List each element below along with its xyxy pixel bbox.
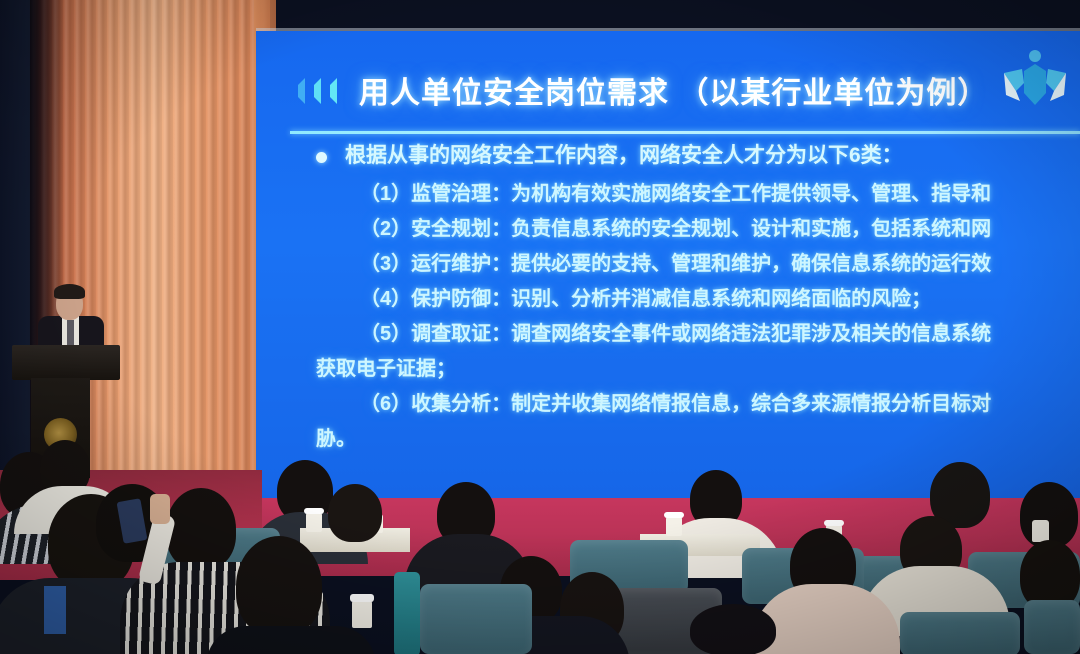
audience-head xyxy=(560,572,624,646)
lanyard xyxy=(44,586,66,634)
slide-item-2: （2）安全规划：负责信息系统的安全规划、设计和实施，包括系统和网 xyxy=(360,216,1080,242)
slide-bullet: 根据从事的网络安全工作内容，网络安全人才分为以下6类： xyxy=(316,143,1080,169)
slide-title: 用人单位安全岗位需求 （以某行业单位为例） xyxy=(359,68,988,112)
chair xyxy=(900,612,1020,654)
speaker-hair xyxy=(54,284,85,299)
chair xyxy=(612,588,722,654)
chair xyxy=(1024,600,1080,654)
slide-item-1: （1）监管治理：为机构有效实施网络安全工作提供领导、管理、指导和 xyxy=(360,181,1080,207)
podium-emblem xyxy=(44,418,77,451)
conference-photo: 用人单位安全岗位需求 （以某行业单位为例） 根据从事的网络安全工作内容，网络安全… xyxy=(0,0,1080,654)
slide-item-5: （5）调查取证：调查网络安全事件或网络违法犯罪涉及相关的信息系统 xyxy=(360,321,1080,347)
title-underline xyxy=(290,131,1080,134)
speaker-tie xyxy=(67,320,74,346)
slide-item-3: （3）运行维护：提供必要的支持、管理和维护，确保信息系统的运行效 xyxy=(360,251,1080,277)
audience-shoulders xyxy=(860,566,1010,636)
presentation-screen: 用人单位安全岗位需求 （以某行业单位为例） 根据从事的网络安全工作内容，网络安全… xyxy=(256,31,1080,501)
slide-item-4: （4）保护防御：识别、分析并消减信息系统和网络面临的风险； xyxy=(360,286,1080,312)
chair xyxy=(420,584,532,654)
podium-top xyxy=(12,345,120,380)
stage-floor-left xyxy=(0,470,262,580)
audience-shoulders xyxy=(752,584,900,654)
teacup xyxy=(352,600,372,628)
teacup-lid xyxy=(350,594,374,602)
thermos-bottle xyxy=(394,572,420,654)
audience-head xyxy=(690,604,776,654)
slide-body: 根据从事的网络安全工作内容，网络安全人才分为以下6类： （1）监管治理：为机构有… xyxy=(316,143,1080,461)
audience-shoulders xyxy=(206,626,376,654)
slide-title-row: 用人单位安全岗位需求 （以某行业单位为例） xyxy=(290,63,1066,117)
double-chevron-right-icon xyxy=(290,78,337,104)
audience-shoulders xyxy=(480,616,630,654)
slide-bullet-text: 根据从事的网络安全工作内容，网络安全人才分为以下6类： xyxy=(345,143,903,169)
bullet-dot-icon xyxy=(316,152,327,163)
slide-item-5-cont: 获取电子证据； xyxy=(316,356,1080,382)
audience-shoulders xyxy=(0,578,190,654)
butterfly-person-logo-icon xyxy=(1000,43,1070,121)
slide-item-6: （6）收集分析：制定并收集网络情报信息，综合多来源情报分析目标对 xyxy=(360,391,1080,417)
slide-item-6-cont: 胁。 xyxy=(316,426,1080,452)
